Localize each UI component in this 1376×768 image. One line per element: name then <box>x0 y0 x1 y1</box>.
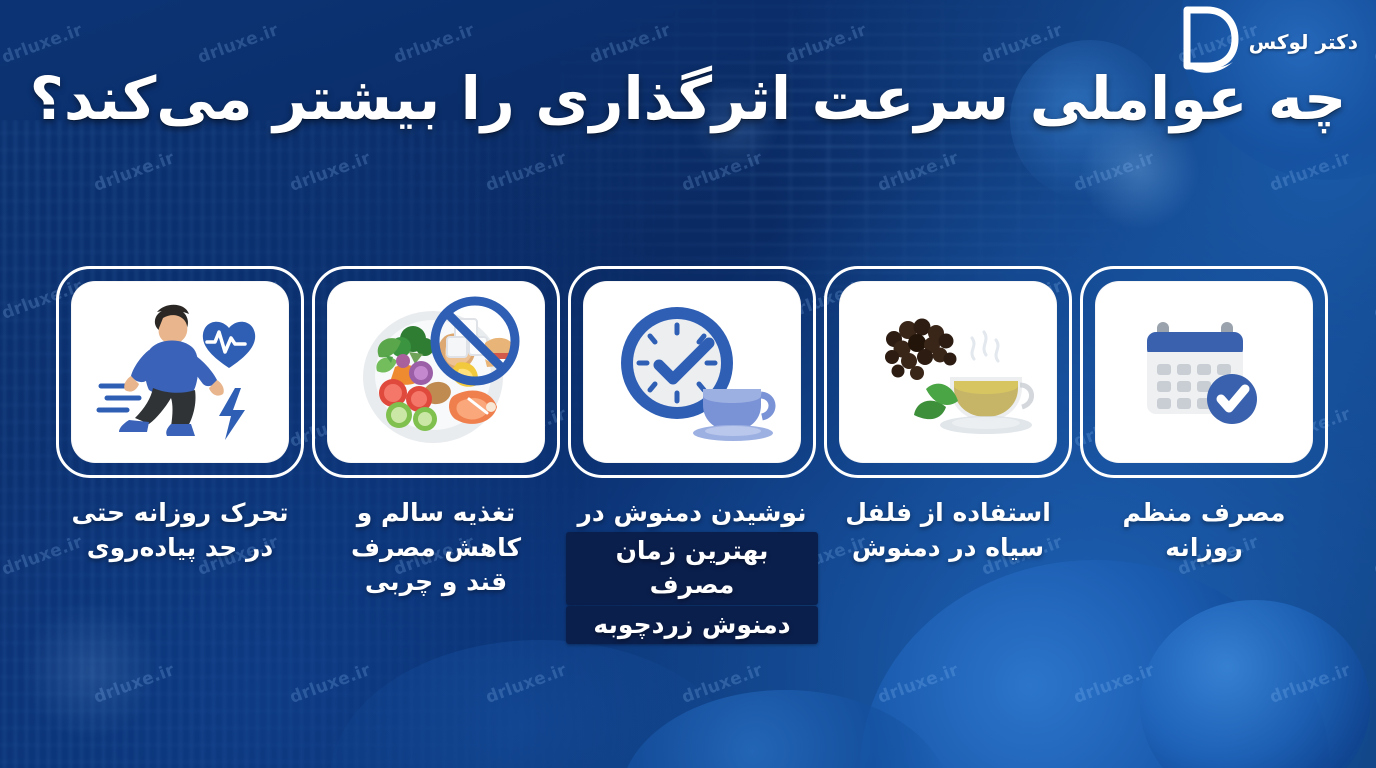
card-icon-area <box>583 281 801 463</box>
walking-person-heartbeat-icon <box>93 296 268 448</box>
peppercorns-and-herbal-tea-cup-icon <box>862 297 1034 447</box>
caption-line: قند و چربی <box>312 565 560 600</box>
caption-line: استفاده از فلفل <box>824 496 1072 531</box>
card-black-pepper-in-tea[interactable] <box>824 266 1072 478</box>
caption-line: نوشیدن دمنوش در <box>568 496 816 531</box>
caption-healthy-diet: تغذیه سالم و کاهش مصرف قند و چربی <box>312 496 560 645</box>
captions-row: مصرف منظم روزانه استفاده از فلفل سیاه در… <box>56 496 1328 645</box>
card-healthy-diet[interactable] <box>312 266 560 478</box>
caption-line: سیاه در دمنوش <box>824 531 1072 566</box>
cards-row <box>56 266 1328 478</box>
card-best-time-to-drink[interactable] <box>568 266 816 478</box>
card-icon-area <box>1095 281 1313 463</box>
caption-best-time-to-drink: نوشیدن دمنوش در بهترین زمان مصرف دمنوش ز… <box>568 496 816 645</box>
caption-line: مصرف منظم <box>1080 496 1328 531</box>
caption-line: روزانه <box>1080 531 1328 566</box>
caption-line: در حد پیاده‌روی <box>56 531 304 566</box>
lightning-bolt <box>219 388 245 440</box>
card-column <box>824 266 1072 478</box>
caption-black-pepper-in-tea: استفاده از فلفل سیاه در دمنوش <box>824 496 1072 645</box>
card-column <box>1080 266 1328 478</box>
caption-regular-daily-use: مصرف منظم روزانه <box>1080 496 1328 645</box>
walking-person <box>119 305 224 436</box>
caption-daily-movement: تحرک روزانه حتی در حد پیاده‌روی <box>56 496 304 645</box>
card-daily-movement[interactable] <box>56 266 304 478</box>
tea-cup <box>940 377 1032 434</box>
card-column <box>568 266 816 478</box>
caption-line: کاهش مصرف <box>312 531 560 566</box>
caption-line: تغذیه سالم و <box>312 496 560 531</box>
blue-cup <box>693 389 773 441</box>
card-icon-area <box>71 281 289 463</box>
card-column <box>312 266 560 478</box>
infographic-canvas: drluxe.irdrluxe.irdrluxe.irdrluxe.irdrlu… <box>0 0 1376 768</box>
caption-highlight-line: دمنوش زردچوبه <box>566 606 818 645</box>
peppercorn-pile <box>885 319 957 381</box>
steam <box>972 332 998 361</box>
calendar-check-icon <box>1129 302 1279 442</box>
card-column <box>56 266 304 478</box>
clock-and-cup-icon <box>607 297 777 447</box>
page-title: چه عواملی سرعت اثرگذاری را بیشتر می‌کند؟ <box>0 68 1376 130</box>
caption-line: تحرک روزانه حتی <box>56 496 304 531</box>
card-icon-area <box>839 281 1057 463</box>
card-icon-area <box>327 281 545 463</box>
caption-highlight-line: بهترین زمان مصرف <box>566 532 818 605</box>
healthy-plate-no-sugar-icon <box>351 295 521 450</box>
brand-logo-text: دکتر لوکس <box>1249 30 1358 54</box>
card-regular-daily-use[interactable] <box>1080 266 1328 478</box>
heartbeat-heart <box>202 322 254 368</box>
